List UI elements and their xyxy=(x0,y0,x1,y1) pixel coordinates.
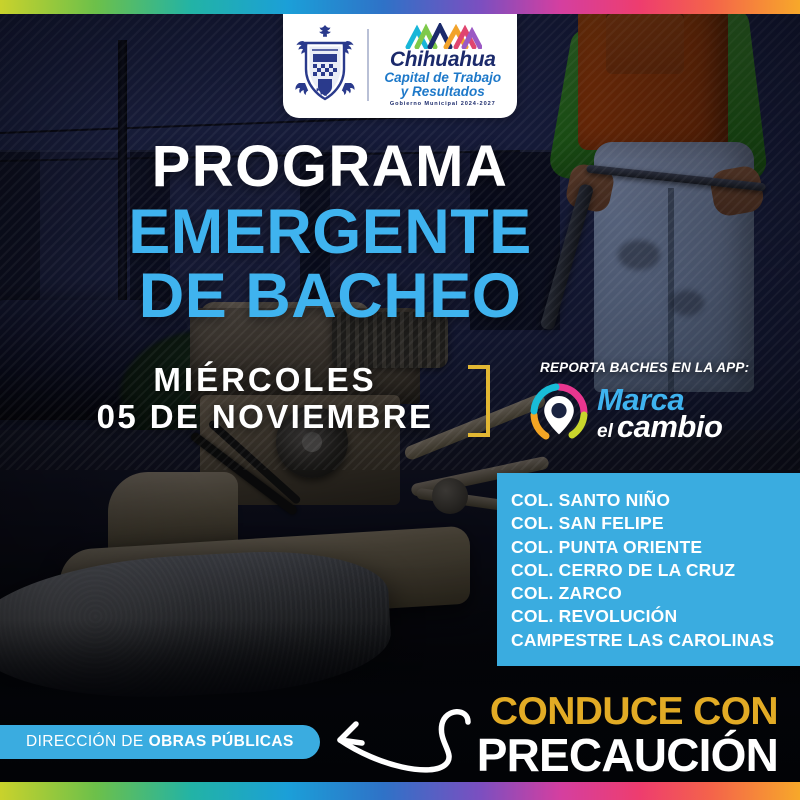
title-line-programa: PROGRAMA xyxy=(0,138,660,196)
safety-cta: CONDUCE CON PRECAUCIÓN xyxy=(477,692,778,779)
cta-line-conduce: CONDUCE CON xyxy=(477,692,778,731)
list-item: COL. REVOLUCIÓN xyxy=(511,605,800,628)
app-name-el: el xyxy=(597,424,613,441)
brand-city-name: Chihuahua xyxy=(390,50,496,71)
brand-tagline-1: Capital de Trabajo xyxy=(384,71,501,85)
curved-arrow-icon xyxy=(318,700,478,780)
rainbow-strip-top xyxy=(0,0,800,14)
department-badge: DIRECCIÓN DE OBRAS PÚBLICAS xyxy=(0,725,320,759)
app-name: Marca el cambio xyxy=(597,386,722,441)
location-pin-icon xyxy=(528,382,590,444)
department-name: OBRAS PÚBLICAS xyxy=(149,733,294,751)
brand-administration: Gobierno Municipal 2024-2027 xyxy=(390,101,496,107)
title-line-emergente: EMERGENTE xyxy=(0,200,660,264)
event-date: MIÉRCOLES 05 DE NOVIEMBRE xyxy=(70,362,460,436)
mountain-peaks-icon xyxy=(404,23,482,49)
coat-of-arms-icon xyxy=(293,23,357,107)
app-name-cambio: cambio xyxy=(617,413,723,440)
list-item: COL. ZARCO xyxy=(511,582,800,605)
cta-line-precaucion: PRECAUCIÓN xyxy=(477,732,778,779)
rainbow-strip-bottom xyxy=(0,782,800,800)
date-weekday: MIÉRCOLES xyxy=(70,362,460,399)
gold-bracket-accent xyxy=(468,365,490,437)
date-full: 05 DE NOVIEMBRE xyxy=(70,399,460,436)
brand-lockup: Chihuahua Capital de Trabajo y Resultado… xyxy=(379,23,507,107)
app-promo-label: REPORTA BACHES EN LA APP: xyxy=(540,360,788,375)
department-prefix: DIRECCIÓN DE xyxy=(26,733,144,751)
list-item: COL. CERRO DE LA CRUZ xyxy=(511,559,800,582)
poster-title: PROGRAMA EMERGENTE DE BACHEO xyxy=(0,138,660,329)
government-logo-card: Chihuahua Capital de Trabajo y Resultado… xyxy=(283,14,517,118)
colonias-panel: COL. SANTO NIÑO COL. SAN FELIPE COL. PUN… xyxy=(497,473,800,666)
brand-tagline-2: y Resultados xyxy=(401,85,485,99)
poster-root: Chihuahua Capital de Trabajo y Resultado… xyxy=(0,0,800,800)
app-promo-block: REPORTA BACHES EN LA APP: Marca el cambi… xyxy=(528,360,788,444)
list-item: COL. SAN FELIPE xyxy=(511,512,800,535)
logo-divider xyxy=(367,29,369,101)
app-logo-lockup: Marca el cambio xyxy=(528,382,788,444)
title-line-bacheo: DE BACHEO xyxy=(0,264,660,328)
app-name-second-line: el cambio xyxy=(597,413,722,441)
list-item: COL. PUNTA ORIENTE xyxy=(511,536,800,559)
list-item: CAMPESTRE LAS CAROLINAS xyxy=(511,629,800,652)
list-item: COL. SANTO NIÑO xyxy=(511,489,800,512)
